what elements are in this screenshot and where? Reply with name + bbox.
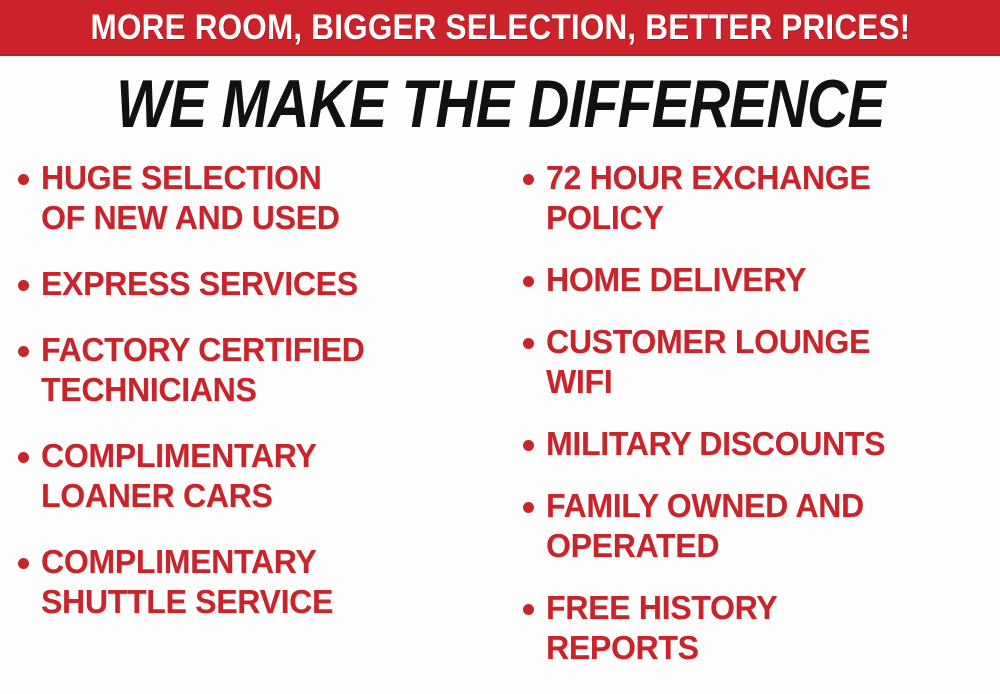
headline-container: WE MAKE THE DIFFERENCE: [0, 60, 1000, 148]
list-item-label: HOME DELIVERY: [546, 260, 806, 300]
feature-list-left: HUGE SELECTION OF NEW AND USED EXPRESS S…: [0, 158, 505, 694]
list-item: MILITARY DISCOUNTS: [523, 424, 1000, 464]
list-item-label: FACTORY CERTIFIED TECHNICIANS: [41, 330, 364, 410]
bullet-dot-icon: [523, 604, 534, 615]
list-item: HOME DELIVERY: [523, 260, 1000, 300]
list-item-label: COMPLIMENTARY SHUTTLE SERVICE: [41, 542, 333, 622]
list-item-label: MILITARY DISCOUNTS: [546, 424, 885, 464]
page-title: WE MAKE THE DIFFERENCE: [116, 70, 885, 138]
list-item: 72 HOUR EXCHANGE POLICY: [523, 158, 1000, 238]
list-item: COMPLIMENTARY SHUTTLE SERVICE: [18, 542, 505, 622]
bullet-dot-icon: [18, 174, 29, 185]
list-item: FAMILY OWNED AND OPERATED: [523, 486, 1000, 566]
list-item: HUGE SELECTION OF NEW AND USED: [18, 158, 505, 238]
bullet-dot-icon: [18, 558, 29, 569]
list-item-label: 72 HOUR EXCHANGE POLICY: [546, 158, 870, 238]
list-item: CUSTOMER LOUNGE WIFI: [523, 322, 1000, 402]
bullet-dot-icon: [523, 174, 534, 185]
list-item: COMPLIMENTARY LOANER CARS: [18, 436, 505, 516]
bullet-dot-icon: [523, 276, 534, 287]
list-item: FACTORY CERTIFIED TECHNICIANS: [18, 330, 505, 410]
bullet-dot-icon: [18, 346, 29, 357]
list-item: FREE HISTORY REPORTS: [523, 588, 1000, 668]
bullet-dot-icon: [18, 280, 29, 291]
bullet-dot-icon: [523, 502, 534, 513]
list-item-label: EXPRESS SERVICES: [41, 264, 358, 304]
list-item-label: COMPLIMENTARY LOANER CARS: [41, 436, 316, 516]
list-item-label: FREE HISTORY REPORTS: [546, 588, 777, 668]
list-item: EXPRESS SERVICES: [18, 264, 505, 304]
banner-tagline-text: MORE ROOM, BIGGER SELECTION, BETTER PRIC…: [90, 10, 910, 45]
list-item-label: CUSTOMER LOUNGE WIFI: [546, 322, 870, 402]
bullet-dot-icon: [18, 452, 29, 463]
bullet-dot-icon: [523, 338, 534, 349]
headline-banner: MORE ROOM, BIGGER SELECTION, BETTER PRIC…: [0, 0, 1000, 56]
feature-columns: HUGE SELECTION OF NEW AND USED EXPRESS S…: [0, 158, 1000, 694]
list-item-label: FAMILY OWNED AND OPERATED: [546, 486, 864, 566]
feature-list-right: 72 HOUR EXCHANGE POLICY HOME DELIVERY CU…: [505, 158, 1000, 694]
list-item-label: HUGE SELECTION OF NEW AND USED: [41, 158, 340, 238]
bullet-dot-icon: [523, 440, 534, 451]
promotional-poster: MORE ROOM, BIGGER SELECTION, BETTER PRIC…: [0, 0, 1000, 694]
